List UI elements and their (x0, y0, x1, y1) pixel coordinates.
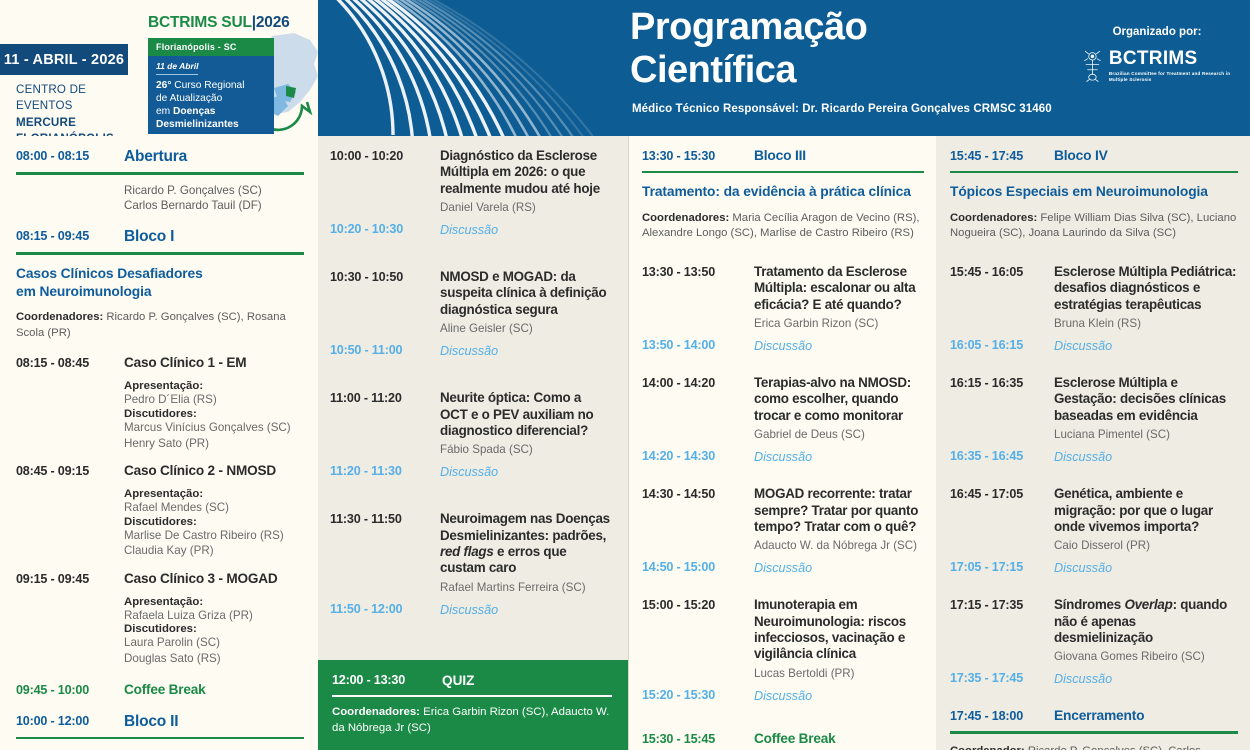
event-course-line3-pre: em (156, 106, 173, 117)
talk-c2-4: 11:30 - 11:50 Neuroimagem nas Doenças De… (330, 511, 612, 594)
talk-c2-4-speaker: Rafael Martins Ferreira (SC) (440, 580, 612, 595)
bloco1-label: Bloco I (124, 228, 304, 246)
event-course: 26° Curso Regional de Atualização em Doe… (156, 79, 266, 131)
quiz-card: 12:00 - 13:30 QUIZ Coordenadores: Erica … (318, 660, 628, 750)
event-day: 11 de Abril (156, 61, 266, 71)
quiz-coord-label: Coordenadores: (332, 706, 420, 718)
talk-c3-1: 13:30 - 13:50 Tratamento da Esclerose Mú… (642, 264, 924, 331)
coffee-break-afternoon: 15:30 - 15:45 Coffee Break (642, 731, 924, 748)
abertura-people-row: x Ricardo P. Gonçalves (SC) Carlos Berna… (16, 183, 304, 215)
page-title: Programação Científica (630, 6, 1050, 91)
bloco3-label: Bloco III (754, 148, 924, 163)
case-3-discussants-label: Discutidores: (124, 623, 304, 635)
event-logo: BCTRIMS SUL|2026 Florianópolis - SC 11 d… (148, 14, 328, 136)
column-divider (628, 136, 629, 750)
abertura-time: 08:00 - 08:15 (16, 148, 124, 165)
abertura-label: Abertura (124, 148, 304, 166)
discussion-c4-1: 16:05 - 16:15 Discussão (950, 337, 1238, 355)
talk-c2-4-title: Neuroimagem nas Doenças Desmielinizantes… (440, 511, 612, 576)
discussion-c4-3-time: 17:05 - 17:15 (950, 559, 1054, 576)
talk-c2-2-title: NMOSD e MOGAD: da suspeita clínica à def… (440, 269, 612, 318)
discussion-c3-4-time: 15:20 - 15:30 (642, 687, 754, 704)
discussion-c4-3: 17:05 - 17:15 Discussão (950, 559, 1238, 577)
bloco4-time: 15:45 - 17:45 (950, 148, 1054, 165)
schedule-column-2: 10:00 - 10:20 Diagnóstico da Esclerose M… (318, 136, 628, 750)
schedule-column-3: 13:30 - 15:30 Bloco III Tratamento: da e… (628, 136, 936, 750)
discussion-c3-2-time: 14:20 - 14:30 (642, 448, 754, 465)
discussion-c4-3-label: Discussão (1054, 561, 1112, 575)
talk-c3-3: 14:30 - 14:50 MOGAD recorrente: tratar s… (642, 486, 924, 553)
coffee-morning-time: 09:45 - 10:00 (16, 682, 124, 699)
talk-c3-4: 15:00 - 15:20 Imunoterapia em Neuroimuno… (642, 597, 924, 680)
case-2-discussant-2: Claudia Kay (PR) (124, 543, 304, 559)
discussion-c4-4: 17:35 - 17:45 Discussão (950, 670, 1238, 688)
talk-c4-3-title: Genética, ambiente e migração: por que o… (1054, 486, 1238, 535)
talk-c4-3-speaker: Caio Disserol (PR) (1054, 538, 1238, 553)
discussion-c3-1-label: Discussão (754, 339, 812, 353)
talk-c3-3-speaker: Adaucto W. da Nóbrega Jr (SC) (754, 538, 924, 553)
event-course-line3-bold: Doenças (173, 106, 215, 117)
talk-c2-1: 10:00 - 10:20 Diagnóstico da Esclerose M… (330, 148, 612, 215)
case-3: 09:15 - 09:45 Caso Clínico 3 - MOGAD Apr… (16, 571, 304, 667)
talk-c2-3-title: Neurite óptica: Como a OCT e o PEV auxil… (440, 390, 612, 439)
discussion-c3-4-label: Discussão (754, 689, 812, 703)
talk-c3-2: 14:00 - 14:20 Terapias-alvo na NMOSD: co… (642, 375, 924, 442)
talk-c4-2-time: 16:15 - 16:35 (950, 375, 1054, 392)
discussion-c2-1-time: 10:20 - 10:30 (330, 221, 440, 238)
closing-time: 17:45 - 18:00 (950, 708, 1054, 725)
talk-c2-3-speaker: Fábio Spada (SC) (440, 442, 612, 457)
bloco1-theme-line2: em Neuroimunologia (16, 283, 304, 301)
talk-c2-2: 10:30 - 10:50 NMOSD e MOGAD: da suspeita… (330, 269, 612, 336)
organizer-name: BCTRIMS (1109, 49, 1232, 68)
technical-responsible: Médico Técnico Responsável: Dr. Ricardo … (632, 103, 1192, 115)
discussion-c4-4-time: 17:35 - 17:45 (950, 670, 1054, 687)
talk-c4-1-speaker: Bruna Klein (RS) (1054, 316, 1238, 331)
coffee-afternoon-time: 15:30 - 15:45 (642, 731, 754, 748)
case-1-discussant-1: Marcus Vinícius Gonçalves (SC) (124, 420, 304, 436)
discussion-c3-3: 14:50 - 15:00 Discussão (642, 559, 924, 577)
discussion-c2-2-time: 10:50 - 11:00 (330, 342, 440, 359)
talk-c3-4-time: 15:00 - 15:20 (642, 597, 754, 614)
discussion-c2-3: 11:20 - 11:30 Discussão (330, 463, 612, 481)
talk-c4-4: 17:15 - 17:35 Síndromes Overlap: quando … (950, 597, 1238, 664)
closing-coord-label: Coordenador: (950, 745, 1025, 750)
bloco3-time: 13:30 - 15:30 (642, 148, 754, 165)
page-title-line1: Programação (630, 6, 1050, 49)
bloco1-coord-label: Coordenadores: (16, 311, 103, 323)
talk-c4-3-time: 16:45 - 17:05 (950, 486, 1054, 503)
case-2-time: 08:45 - 09:15 (16, 463, 124, 480)
discussion-c3-1: 13:50 - 14:00 Discussão (642, 337, 924, 355)
bloco2-label: Bloco II (124, 713, 304, 731)
case-1-presenter: Pedro D´Elia (RS) (124, 392, 304, 408)
case-2-title: Caso Clínico 2 - NMOSD (124, 463, 304, 478)
venue-line-1: CENTRO DE (16, 82, 156, 98)
schedule-column-1: 08:00 - 08:15 Abertura x Ricardo P. Gonç… (0, 136, 318, 750)
session-bloco-3: 13:30 - 15:30 Bloco III (642, 148, 924, 165)
talk-c3-4-speaker: Lucas Bertoldi (PR) (754, 666, 924, 681)
discussion-c4-1-time: 16:05 - 16:15 (950, 337, 1054, 354)
talk-c4-1-time: 15:45 - 16:05 (950, 264, 1054, 281)
venue-line-2: EVENTOS (16, 98, 156, 114)
talk-c3-2-speaker: Gabriel de Deus (SC) (754, 427, 924, 442)
discussion-c2-3-label: Discussão (440, 465, 498, 479)
organizer-tagline: Brazilian Committee for Treatment and Re… (1109, 71, 1232, 83)
event-edition: 26° (156, 80, 171, 91)
talk-c4-4-speaker: Giovana Gomes Ribeiro (SC) (1054, 649, 1238, 664)
case-3-title: Caso Clínico 3 - MOGAD (124, 571, 304, 586)
event-course-line4: Desmielinizantes (156, 119, 239, 130)
bloco3-theme: Tratamento: da evidência à prática clíni… (642, 183, 924, 201)
talk-c3-2-time: 14:00 - 14:20 (642, 375, 754, 392)
event-year: 2026 (256, 14, 290, 31)
talk-c2-4-title-pre: Neuroimagem nas Doenças Desmielinizantes… (440, 511, 610, 542)
talk-c4-1: 15:45 - 16:05 Esclerose Múltipla Pediátr… (950, 264, 1238, 331)
discussion-c3-3-time: 14:50 - 15:00 (642, 559, 754, 576)
bloco3-coordinators: Coordenadores: Maria Cecília Aragon de V… (642, 211, 924, 242)
header-blue-panel: Programação Científica Médico Técnico Re… (318, 0, 1250, 136)
talk-c3-4-title: Imunoterapia em Neuroimunologia: riscos … (754, 597, 924, 662)
discussion-c4-1-label: Discussão (1054, 339, 1112, 353)
session-bloco-2: 10:00 - 12:00 Bloco II (16, 713, 304, 731)
discussion-c4-2-time: 16:35 - 16:45 (950, 448, 1054, 465)
discussion-c2-1: 10:20 - 10:30 Discussão (330, 221, 612, 239)
bloco4-coordinators: Coordenadores: Felipe William Dias Silva… (950, 211, 1238, 242)
case-1-time: 08:15 - 08:45 (16, 355, 124, 372)
session-abertura: 08:00 - 08:15 Abertura (16, 148, 304, 166)
talk-c4-4-time: 17:15 - 17:35 (950, 597, 1054, 614)
talk-c4-4-title-emphasis: Overlap (1124, 597, 1172, 612)
talk-c2-2-speaker: Aline Geisler (SC) (440, 321, 612, 336)
event-city: Florianópolis - SC (148, 38, 274, 56)
case-1-presentation-label: Apresentação: (124, 380, 304, 392)
discussion-c3-2: 14:20 - 14:30 Discussão (642, 448, 924, 466)
bloco1-coordinators: Coordenadores: Ricardo P. Gonçalves (SC)… (16, 310, 304, 341)
discussion-c3-2-label: Discussão (754, 450, 812, 464)
discussion-c3-4: 15:20 - 15:30 Discussão (642, 687, 924, 705)
talk-c3-3-title: MOGAD recorrente: tratar sempre? Tratar … (754, 486, 924, 535)
event-brand: BCTRIMS SUL (148, 14, 252, 31)
discussion-c2-2: 10:50 - 11:00 Discussão (330, 342, 612, 360)
session-encerramento: 17:45 - 18:00 Encerramento (950, 708, 1238, 725)
coffee-break-morning: 09:45 - 10:00 Coffee Break (16, 682, 304, 699)
talk-c4-2-speaker: Luciana Pimentel (SC) (1054, 427, 1238, 442)
schedule-column-4: 15:45 - 17:45 Bloco IV Tópicos Especiais… (936, 136, 1250, 750)
bloco4-coord-label: Coordenadores: (950, 212, 1037, 224)
case-1-title: Caso Clínico 1 - EM (124, 355, 304, 370)
case-3-presenter: Rafaela Luiza Griza (PR) (124, 608, 304, 624)
talk-c2-4-time: 11:30 - 11:50 (330, 511, 440, 528)
event-logo-card: Florianópolis - SC 11 de Abril 26° Curso… (148, 38, 274, 134)
quiz-time: 12:00 - 13:30 (332, 673, 442, 688)
page-title-line2: Científica (630, 49, 1050, 92)
case-2: 08:45 - 09:15 Caso Clínico 2 - NMOSD Apr… (16, 463, 304, 559)
session-bloco-1: 08:15 - 09:45 Bloco I (16, 228, 304, 246)
coffee-morning-label: Coffee Break (124, 682, 304, 697)
case-3-time: 09:15 - 09:45 (16, 571, 124, 588)
session-bloco-4: 15:45 - 17:45 Bloco IV (950, 148, 1238, 165)
case-2-presentation-label: Apresentação: (124, 488, 304, 500)
case-3-presentation-label: Apresentação: (124, 596, 304, 608)
event-course-line2: de Atualização (156, 93, 222, 104)
talk-c2-3-time: 11:00 - 11:20 (330, 390, 440, 407)
bctrims-logo: BCTRIMS Brazilian Committee for Treatmen… (1082, 44, 1232, 88)
quiz-rule (332, 695, 612, 697)
talk-c2-1-time: 10:00 - 10:20 (330, 148, 440, 165)
discussion-c3-3-label: Discussão (754, 561, 812, 575)
talk-c4-4-title: Síndromes Overlap: quando não é apenas d… (1054, 597, 1238, 646)
quiz-label: QUIZ (442, 673, 474, 688)
talk-c2-2-time: 10:30 - 10:50 (330, 269, 440, 286)
talk-c4-2-title: Esclerose Múltipla e Gestação: decisões … (1054, 375, 1238, 424)
discussion-c2-2-label: Discussão (440, 344, 498, 358)
discussion-c4-4-label: Discussão (1054, 672, 1112, 686)
talk-c3-3-time: 14:30 - 14:50 (642, 486, 754, 503)
discussion-c4-2-label: Discussão (1054, 450, 1112, 464)
bloco1-time: 08:15 - 09:45 (16, 228, 124, 245)
bloco3-coord-label: Coordenadores: (642, 212, 729, 224)
case-3-discussant-1: Laura Parolin (SC) (124, 635, 304, 651)
talk-c3-1-speaker: Erica Garbin Rizon (SC) (754, 316, 924, 331)
talk-c3-2-title: Terapias-alvo na NMOSD: como escolher, q… (754, 375, 924, 424)
talk-c3-1-title: Tratamento da Esclerose Múltipla: escalo… (754, 264, 924, 313)
organizer-block: Organizado por: (1082, 26, 1232, 88)
coffee-afternoon-label: Coffee Break (754, 731, 924, 746)
poster-header: Programação Científica Médico Técnico Re… (0, 0, 1250, 136)
discussion-c2-4-label: Discussão (440, 603, 498, 617)
talk-c4-1-title: Esclerose Múltipla Pediátrica: desafios … (1054, 264, 1238, 313)
case-2-discussants-label: Discutidores: (124, 516, 304, 528)
quiz-coordinators: Coordenadores: Erica Garbin Rizon (SC), … (332, 705, 612, 737)
venue-line-3: MERCURE (16, 115, 156, 131)
discussion-c2-4-time: 11:50 - 12:00 (330, 601, 440, 618)
schedule-columns: 08:00 - 08:15 Abertura x Ricardo P. Gonç… (0, 136, 1250, 750)
case-1-discussant-2: Henry Sato (PR) (124, 436, 304, 452)
bloco2-time: 10:00 - 12:00 (16, 713, 124, 730)
talk-c4-2: 16:15 - 16:35 Esclerose Múltipla e Gesta… (950, 375, 1238, 442)
talk-c3-1-time: 13:30 - 13:50 (642, 264, 754, 281)
closing-coordinators: Coordenador: Ricardo P. Gonçalves (SC), … (950, 744, 1238, 750)
abertura-person-1: Ricardo P. Gonçalves (SC) (124, 183, 304, 199)
discussion-c2-1-label: Discussão (440, 223, 498, 237)
case-1: 08:15 - 08:45 Caso Clínico 1 - EM Aprese… (16, 355, 304, 451)
discussion-c4-2: 16:35 - 16:45 Discussão (950, 448, 1238, 466)
discussion-c2-4: 11:50 - 12:00 Discussão (330, 601, 612, 619)
talk-c4-3: 16:45 - 17:05 Genética, ambiente e migra… (950, 486, 1238, 553)
case-2-discussant-1: Marlise De Castro Ribeiro (RS) (124, 528, 304, 544)
discussion-c2-3-time: 11:20 - 11:30 (330, 463, 440, 480)
talk-c2-1-title: Diagnóstico da Esclerose Múltipla em 202… (440, 148, 612, 197)
case-1-discussants-label: Discutidores: (124, 408, 304, 420)
abertura-person-2: Carlos Bernardo Tauil (DF) (124, 198, 304, 214)
program-poster: Programação Científica Médico Técnico Re… (0, 0, 1250, 750)
organized-by-label: Organizado por: (1082, 26, 1232, 38)
closing-label: Encerramento (1054, 708, 1238, 723)
bloco1-theme-line1: Casos Clínicos Desafiadores (16, 265, 304, 283)
talk-c4-4-title-pre: Síndromes (1054, 597, 1124, 612)
discussion-c3-1-time: 13:50 - 14:00 (642, 337, 754, 354)
date-badge: 11 - ABRIL - 2026 (0, 44, 128, 75)
case-3-discussant-2: Douglas Sato (RS) (124, 651, 304, 667)
bloco4-label: Bloco IV (1054, 148, 1238, 163)
event-logo-rule (156, 74, 198, 75)
event-course-line1: Curso Regional (174, 80, 244, 91)
talk-c2-4-title-emphasis: red flags (440, 544, 494, 559)
neuron-icon (1082, 44, 1103, 88)
talk-c2-1-speaker: Daniel Varela (RS) (440, 200, 612, 215)
case-2-presenter: Rafael Mendes (SC) (124, 500, 304, 516)
venue-info: CENTRO DE EVENTOS MERCURE FLORIANÓPOLIS (16, 82, 156, 136)
talk-c2-3: 11:00 - 11:20 Neurite óptica: Como a OCT… (330, 390, 612, 457)
bloco4-theme: Tópicos Especiais em Neuroimunologia (950, 183, 1238, 201)
